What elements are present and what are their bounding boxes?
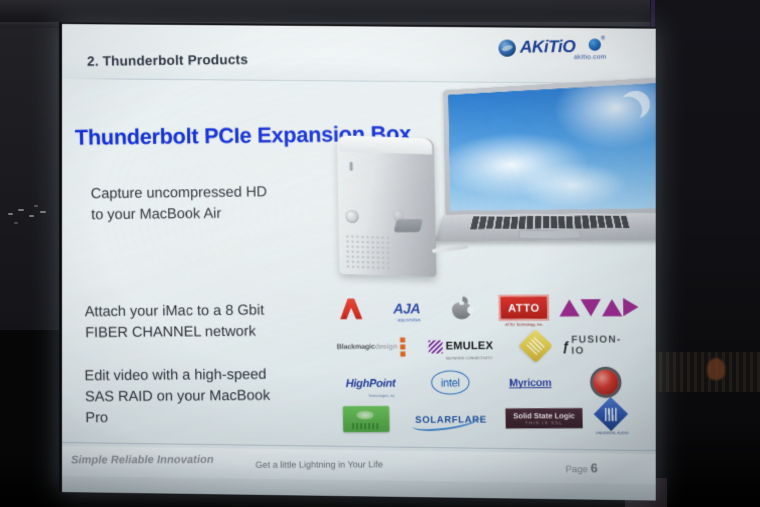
audience-head bbox=[707, 358, 725, 380]
fusionio-wordmark: ƒ FUSION-IO bbox=[562, 334, 631, 357]
avid-triangle-right bbox=[602, 299, 623, 316]
adobe-label: Adobe bbox=[340, 314, 362, 320]
avid-triangle-mid bbox=[580, 299, 601, 316]
presentation-slide: 2. Thunderbolt Products AKiTiO ® akitio.… bbox=[59, 22, 656, 501]
macbook-lid bbox=[443, 77, 656, 219]
blackmagic-sublabel: design bbox=[375, 343, 397, 350]
green-badge-icon bbox=[343, 406, 390, 432]
power-button-icon bbox=[345, 210, 358, 223]
page-label: Page bbox=[565, 464, 588, 475]
logo-apple bbox=[444, 291, 479, 325]
avid-triangle-left bbox=[559, 299, 580, 316]
fusionio-label: FUSION-IO bbox=[571, 334, 631, 356]
blackmagic-label: Blackmagic bbox=[337, 343, 375, 350]
emulex-label: EMULEX bbox=[446, 340, 494, 352]
logo-blackmagic: Blackmagic design bbox=[331, 329, 410, 364]
intel-label: intel bbox=[441, 377, 460, 389]
footer-center-text: Get a little Lightning in Your Life bbox=[255, 459, 383, 469]
logo-myricom: Myricom bbox=[491, 365, 569, 400]
page-value: 6 bbox=[590, 461, 597, 475]
logo-avid bbox=[567, 290, 631, 325]
screenshot-root: 2. Thunderbolt Products AKiTiO ® akitio.… bbox=[0, 0, 760, 507]
solarflare-swoosh-icon bbox=[410, 409, 482, 433]
logo-emulex: EMULEX NETWORK CONNECTIVITY bbox=[414, 329, 508, 364]
logo-universal-audio: UNIVERSAL AUDIO bbox=[591, 401, 632, 435]
akitio-url: akitio.com bbox=[574, 54, 607, 61]
atto-label: ATTO bbox=[508, 303, 540, 315]
adobe-icon: Adobe bbox=[340, 298, 363, 319]
macbook-base bbox=[435, 213, 656, 241]
macbook-screen-wallpaper bbox=[448, 83, 656, 211]
wall-speck bbox=[29, 215, 34, 217]
akitio-dot-icon bbox=[589, 39, 601, 51]
avid-icon bbox=[559, 298, 638, 317]
logo-green-badge bbox=[333, 402, 400, 436]
logo-red-dot bbox=[579, 365, 632, 400]
logo-yellow-diamond bbox=[513, 329, 558, 363]
footer-page-number: Page 6 bbox=[565, 461, 597, 475]
ssl-label: Solid State Logic bbox=[513, 411, 575, 420]
wall-speck bbox=[14, 222, 18, 224]
wall-speck bbox=[34, 205, 38, 207]
macbook-trackpad bbox=[518, 230, 581, 239]
partner-logo-grid: Adobe AJA VIDEO SYSTEMS bbox=[331, 290, 633, 440]
universal-audio-icon: UNIVERSAL AUDIO bbox=[591, 402, 632, 434]
aja-label: AJA bbox=[393, 300, 420, 316]
atto-sublabel: ATTO Technology, Inc. bbox=[501, 323, 547, 327]
projection-screen: 2. Thunderbolt Products AKiTiO ® akitio.… bbox=[59, 22, 656, 501]
intel-badge: intel bbox=[431, 370, 471, 394]
solarflare-wordmark: SOLARFLARE bbox=[415, 410, 487, 428]
logo-row: SOLARFLARE Solid State Logic THIS IS SSL bbox=[333, 401, 633, 436]
slide-title: 2. Thunderbolt Products bbox=[87, 52, 248, 69]
ssl-badge: Solid State Logic THIS IS SSL bbox=[505, 408, 583, 428]
logo-highpoint: HighPoint Technologies, Inc. bbox=[332, 366, 409, 401]
logo-solid-state-logic: Solid State Logic THIS IS SSL bbox=[498, 401, 590, 436]
ua-bars bbox=[605, 408, 618, 421]
apple-notch bbox=[458, 301, 463, 305]
globe-icon bbox=[498, 40, 516, 57]
power-led-icon bbox=[350, 162, 353, 171]
apple-icon bbox=[451, 297, 471, 319]
product-photo bbox=[320, 86, 653, 290]
emulex-wordmark: EMULEX NETWORK CONNECTIVITY bbox=[428, 340, 493, 353]
emulex-sublabel: NETWORK CONNECTIVITY bbox=[446, 356, 493, 360]
akitio-wordmark: AKiTiO bbox=[520, 37, 576, 58]
logo-aja: AJA VIDEO SYSTEMS bbox=[377, 291, 436, 325]
logo-adobe: Adobe bbox=[331, 291, 372, 325]
wall-speck bbox=[8, 213, 13, 215]
logo-row: Adobe AJA VIDEO SYSTEMS bbox=[331, 290, 631, 326]
logo-row: Blackmagic design EMULEX NETWORK CONNECT… bbox=[331, 328, 631, 364]
apple-bite bbox=[467, 306, 474, 314]
myricom-wordmark: Myricom bbox=[509, 373, 552, 391]
yellow-diamond-icon bbox=[518, 329, 552, 363]
aja-wordmark: AJA VIDEO SYSTEMS bbox=[393, 300, 420, 316]
footer-tagline: Simple Reliable Innovation bbox=[71, 454, 214, 467]
highpoint-sublabel: Technologies, Inc. bbox=[368, 394, 395, 398]
myricom-underline bbox=[509, 387, 551, 389]
expansion-box-top bbox=[339, 135, 432, 154]
highpoint-wordmark: HighPoint Technologies, Inc. bbox=[346, 374, 396, 392]
logo-solarflare: SOLARFLARE bbox=[407, 401, 494, 436]
blackmagic-dots-icon bbox=[400, 337, 405, 356]
ua-sublabel: UNIVERSAL AUDIO bbox=[592, 431, 633, 435]
red-dot-icon bbox=[592, 369, 618, 394]
bullet-item: Capture uncompressed HD to your MacBook … bbox=[91, 182, 268, 226]
atto-badge: ATTO ATTO Technology, Inc. bbox=[499, 294, 549, 320]
blackmagic-wordmark: Blackmagic design bbox=[337, 337, 406, 356]
left-wall bbox=[0, 28, 66, 368]
ssl-sublabel: THIS IS SSL bbox=[513, 420, 575, 425]
logo-fusion-io: ƒ FUSION-IO bbox=[562, 328, 632, 363]
akitio-logo: AKiTiO ® akitio.com bbox=[498, 33, 620, 65]
ventilation-grille bbox=[345, 234, 392, 272]
expansion-box bbox=[337, 135, 436, 277]
thunderbolt-cable bbox=[432, 245, 469, 254]
macbook-keyboard bbox=[470, 216, 629, 230]
logo-atto: ATTO ATTO Technology, Inc. bbox=[488, 290, 559, 325]
wall-speck bbox=[18, 209, 24, 211]
highpoint-label: HighPoint bbox=[346, 378, 396, 390]
logo-row: HighPoint Technologies, Inc. intel Myric… bbox=[332, 365, 632, 401]
avid-play-arrow bbox=[623, 298, 639, 316]
bullet-item: Attach your iMac to a 8 Gbit FIBER CHANN… bbox=[85, 301, 265, 345]
wall-speck bbox=[40, 211, 46, 213]
audience-row bbox=[645, 352, 760, 392]
fusionio-icon: ƒ bbox=[562, 338, 570, 353]
emulex-icon bbox=[428, 340, 442, 353]
trademark-symbol: ® bbox=[601, 35, 606, 41]
bullet-item: Edit video with a high-speed SAS RAID on… bbox=[84, 365, 270, 430]
logo-intel: intel bbox=[417, 365, 484, 399]
aja-sublabel: VIDEO SYSTEMS bbox=[397, 318, 420, 322]
moon-icon bbox=[620, 90, 650, 120]
expansion-box-stand bbox=[394, 219, 423, 232]
